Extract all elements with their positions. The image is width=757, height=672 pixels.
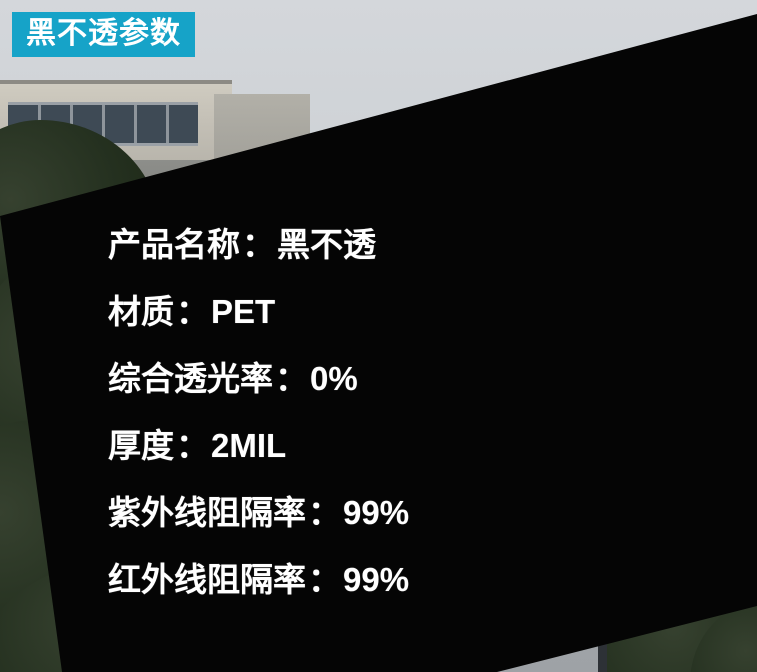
spec-value: 0% xyxy=(310,360,358,397)
product-spec-banner: 黑不透参数 产品名称：黑不透 材质：PET 综合透光率：0% 厚度：2MIL 紫… xyxy=(0,0,757,672)
spec-separator: ： xyxy=(308,561,341,598)
spec-label: 厚度 xyxy=(108,427,174,464)
spec-row: 紫外线阻隔率：99% xyxy=(108,496,668,529)
spec-separator: ： xyxy=(308,494,341,531)
spec-label: 综合透光率 xyxy=(108,360,273,397)
spec-separator: ： xyxy=(242,226,275,263)
spec-value: 99% xyxy=(343,494,409,531)
spec-row: 厚度：2MIL xyxy=(108,429,668,462)
spec-row: 材质：PET xyxy=(108,295,668,328)
page-title: 黑不透参数 xyxy=(12,12,195,57)
spec-label: 产品名称 xyxy=(108,226,240,263)
spec-label: 红外线阻隔率 xyxy=(108,561,306,598)
spec-row: 产品名称：黑不透 xyxy=(108,228,668,261)
spec-label: 紫外线阻隔率 xyxy=(108,494,306,531)
spec-value: 黑不透 xyxy=(277,226,376,263)
spec-separator: ： xyxy=(176,293,209,330)
spec-separator: ： xyxy=(275,360,308,397)
spec-value: 2MIL xyxy=(211,427,286,464)
spec-list: 产品名称：黑不透 材质：PET 综合透光率：0% 厚度：2MIL 紫外线阻隔率：… xyxy=(108,228,668,596)
spec-label: 材质 xyxy=(108,293,174,330)
spec-row: 综合透光率：0% xyxy=(108,362,668,395)
spec-row: 红外线阻隔率：99% xyxy=(108,563,668,596)
spec-separator: ： xyxy=(176,427,209,464)
spec-value: PET xyxy=(211,293,275,330)
spec-value: 99% xyxy=(343,561,409,598)
